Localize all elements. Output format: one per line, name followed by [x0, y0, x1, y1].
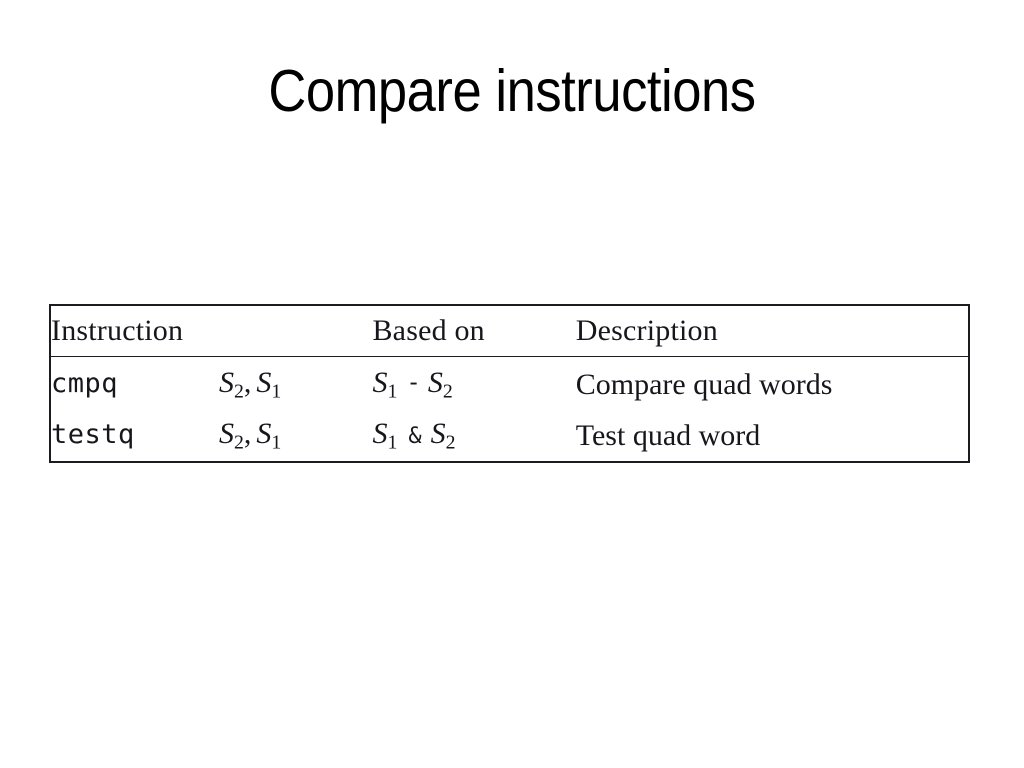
based-on-left-symbol: S	[372, 366, 387, 399]
table-row: cmpqS2,S1 S1-S2 Compare quad words	[50, 357, 969, 411]
table-header-row: Instruction Based on Description	[50, 305, 969, 357]
based-on-right-subscript: 2	[446, 431, 456, 453]
operand-separator: ,	[244, 366, 257, 399]
based-on-left-symbol: S	[372, 417, 387, 450]
operand-source-subscript: 2	[234, 431, 244, 453]
column-header-based-on: Based on	[372, 305, 575, 357]
compare-instructions-table: Instruction Based on Description cmpqS2,…	[49, 304, 970, 463]
cell-instruction: cmpqS2,S1	[50, 357, 372, 411]
based-on-operator: &	[397, 424, 430, 449]
cell-description: Test quad word	[576, 410, 969, 462]
column-header-description: Description	[576, 305, 969, 357]
operand-source-symbol: S	[219, 417, 234, 450]
operand-source-subscript: 2	[234, 380, 244, 402]
cell-description: Compare quad words	[576, 357, 969, 411]
operand-dest-subscript: 1	[271, 431, 281, 453]
operand-dest-symbol: S	[256, 417, 271, 450]
table-row: testqS2,S1 S1&S2 Test quad word	[50, 410, 969, 462]
page-title: Compare instructions	[56, 58, 967, 126]
based-on-right-symbol: S	[431, 417, 446, 450]
cell-based-on: S1-S2	[372, 357, 575, 411]
cell-based-on: S1&S2	[372, 410, 575, 462]
cell-instruction: testqS2,S1	[50, 410, 372, 462]
instruction-operands: S2,S1	[219, 417, 281, 450]
based-on-left-subscript: 1	[387, 380, 397, 402]
based-on-operator: -	[397, 368, 427, 396]
operand-dest-subscript: 1	[271, 380, 281, 402]
operand-dest-symbol: S	[256, 366, 271, 399]
based-on-left-subscript: 1	[387, 431, 397, 453]
column-header-instruction: Instruction	[50, 305, 372, 357]
instruction-operands: S2,S1	[219, 366, 281, 399]
based-on-right-subscript: 2	[443, 380, 453, 402]
based-on-right-symbol: S	[428, 366, 443, 399]
instruction-mnemonic: cmpq	[51, 368, 219, 399]
instruction-mnemonic: testq	[51, 419, 219, 450]
operand-separator: ,	[244, 417, 257, 450]
operand-source-symbol: S	[219, 366, 234, 399]
